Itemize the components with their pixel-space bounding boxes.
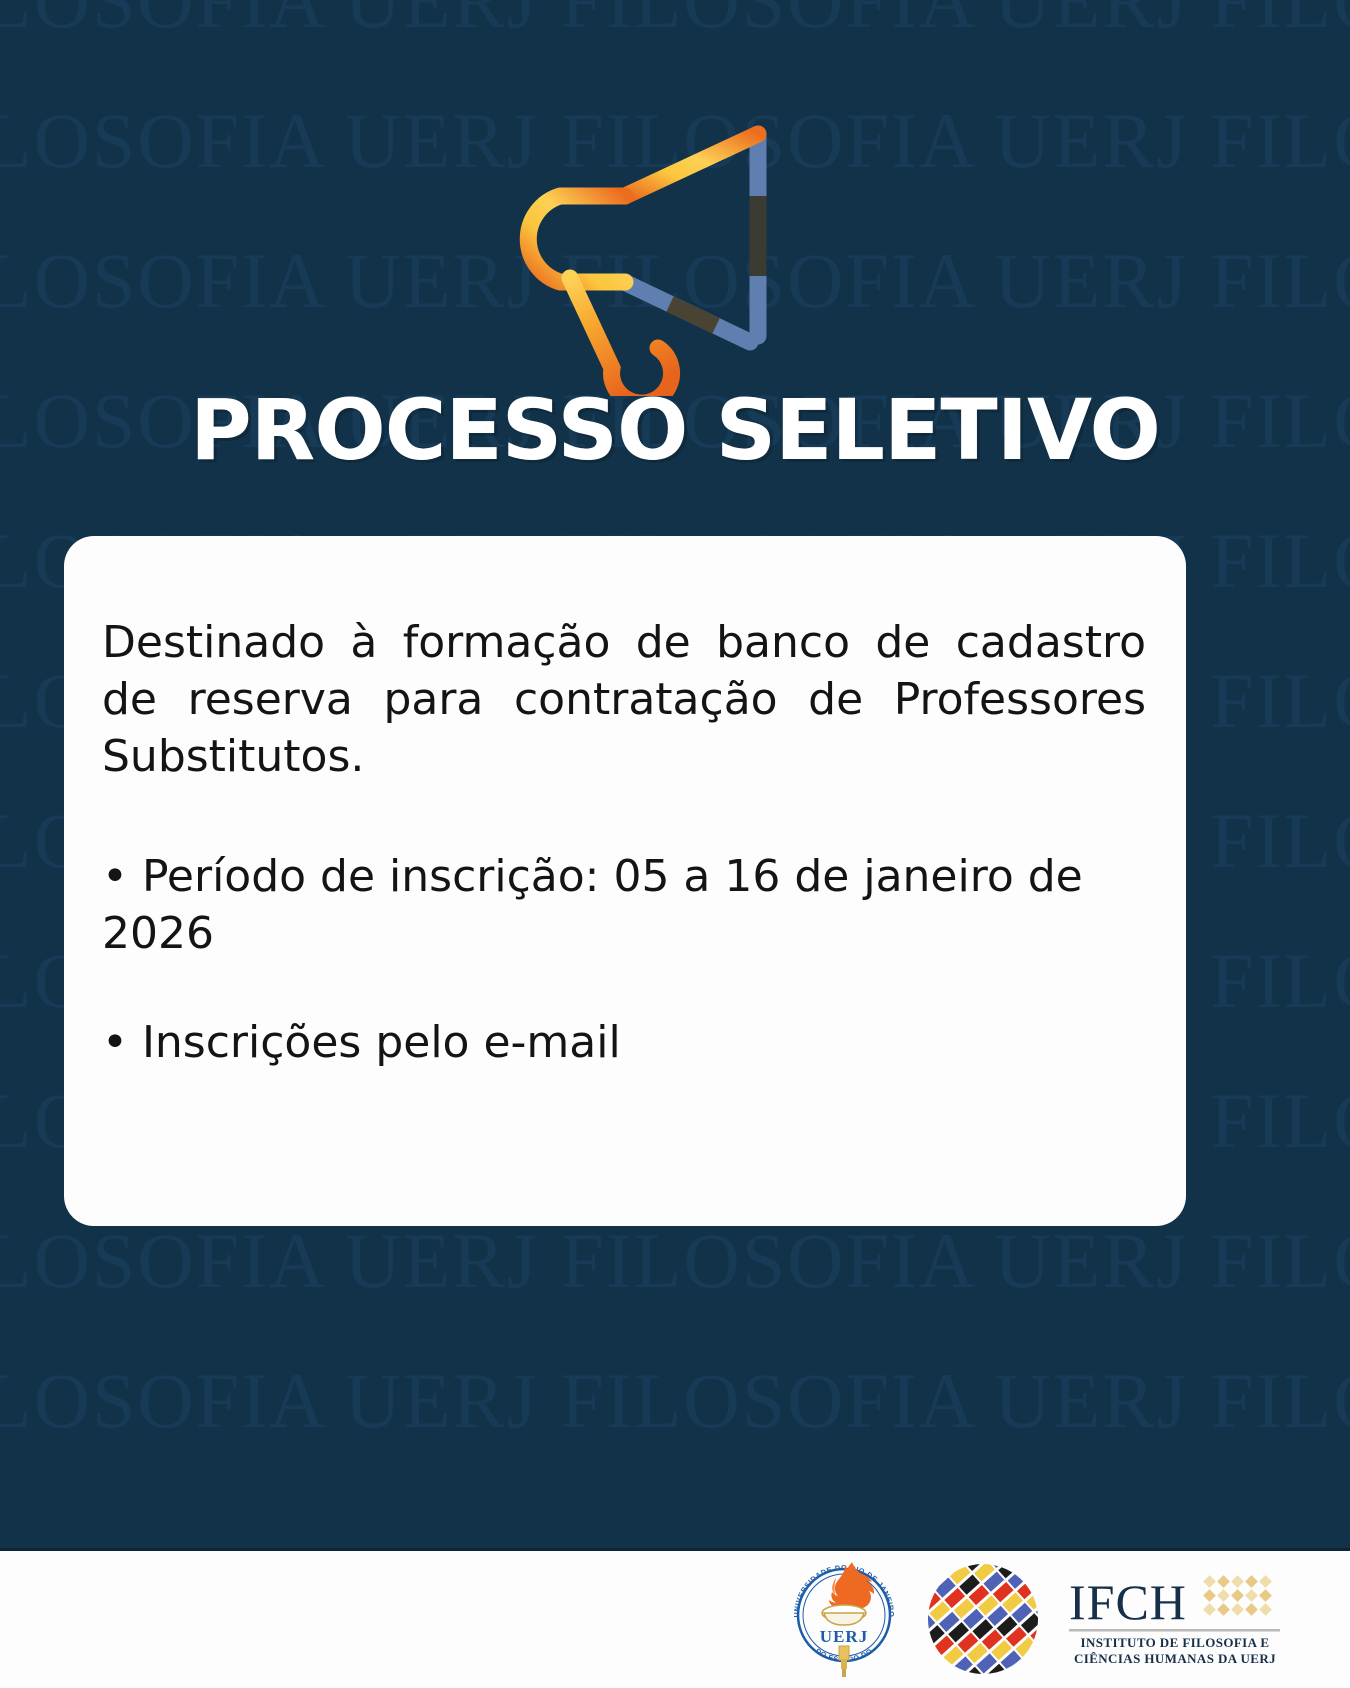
bullet-inscription-period: • Período de inscrição: 05 a 16 de janei… bbox=[102, 848, 1146, 962]
page-title: PROCESSO SELETIVO bbox=[0, 388, 1350, 472]
watermark-row: LOSOFIA UERJ FILOSOFIA UERJ FILOSOFIA UE… bbox=[0, 1222, 1350, 1300]
ifch-wordmark-logo: IFCH bbox=[1067, 1571, 1282, 1672]
ifch-subtitle-line2: CIÊNCIAS HUMANAS DA UERJ bbox=[1074, 1651, 1276, 1666]
watermark-row: LOSOFIA UERJ FILOSOFIA UERJ FILOSOFIA UE… bbox=[0, 0, 1350, 40]
watermark-row: LOSOFIA UERJ FILOSOFIA UERJ FILOSOFIA UE… bbox=[0, 1362, 1350, 1440]
spacer bbox=[102, 962, 1146, 1014]
poster-canvas: LOSOFIA UERJ FILOSOFIA UERJ FILOSOFIA UE… bbox=[0, 0, 1350, 1688]
bullet-inscription-email: • Inscrições pelo e-mail bbox=[102, 1014, 1146, 1071]
ifch-divider bbox=[1069, 1629, 1280, 1632]
megaphone-icon bbox=[462, 86, 792, 396]
ifch-text: IFCH bbox=[1069, 1574, 1187, 1630]
ifch-subtitle-line1: INSTITUTO DE FILOSOFIA E bbox=[1081, 1635, 1270, 1650]
footer-logo-group: UNIVERSIDADE DO RIO DE JANEIRO DO ESTADO… bbox=[789, 1551, 1282, 1688]
uerj-seal-icon: UNIVERSIDADE DO RIO DE JANEIRO DO ESTADO… bbox=[789, 1557, 899, 1681]
content-card: Destinado à formação de banco de cadastr… bbox=[64, 536, 1186, 1226]
uerj-logo: UNIVERSIDADE DO RIO DE JANEIRO DO ESTADO… bbox=[789, 1557, 899, 1686]
spacer bbox=[102, 786, 1146, 848]
intro-paragraph: Destinado à formação de banco de cadastr… bbox=[102, 614, 1146, 786]
footer-bar: UNIVERSIDADE DO RIO DE JANEIRO DO ESTADO… bbox=[0, 1548, 1350, 1688]
ifch-wordmark-icon: IFCH bbox=[1067, 1571, 1282, 1667]
ifch-mosaic-logo bbox=[927, 1563, 1039, 1680]
svg-text:UERJ: UERJ bbox=[820, 1627, 868, 1646]
ifch-mosaic-icon bbox=[927, 1563, 1039, 1675]
